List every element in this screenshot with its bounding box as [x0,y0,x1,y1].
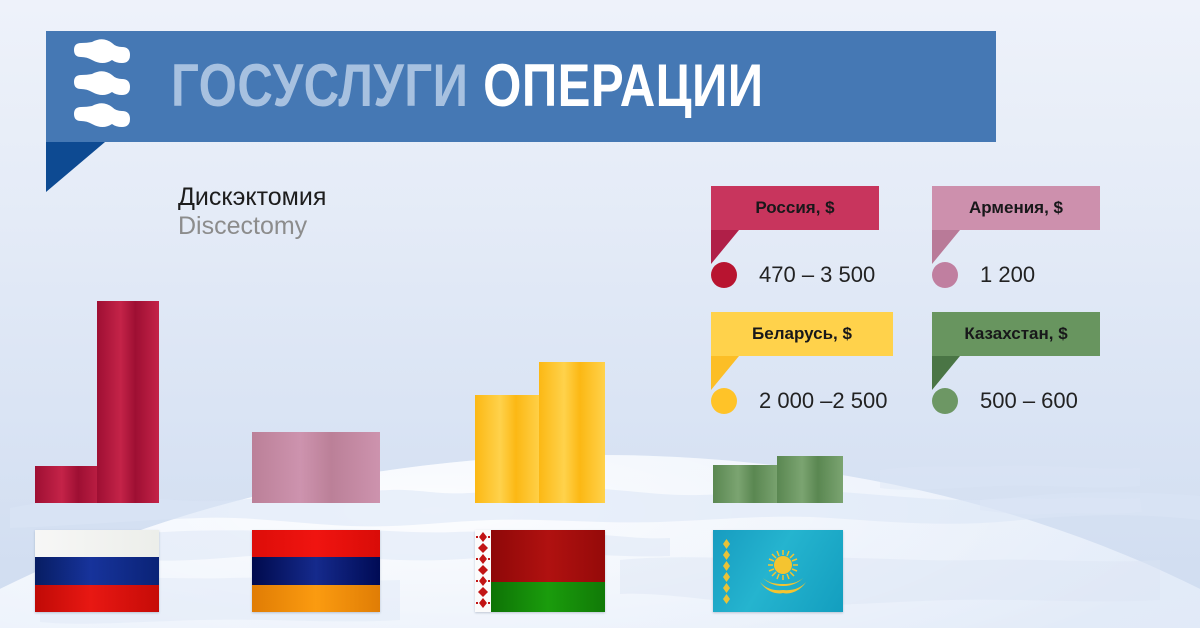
legend-value-row-russia: 470 – 3 500 [711,262,875,288]
flag-stripe [491,530,605,582]
legend-dot-icon [932,388,958,414]
legend-country-russia: Россия, $ [755,198,834,218]
legend-value-kazakhstan: 500 – 600 [980,388,1078,414]
flag-stripe [252,557,380,584]
flag-stripe [491,582,605,612]
legend-dot-icon [932,262,958,288]
flag-belarus [475,530,605,612]
legend-item-kazakhstan[interactable]: Казахстан, $ 500 – 600 [932,312,1100,356]
bar-belarus-max [539,362,605,503]
flag-russia [35,530,159,612]
legend-bubble-belarus: Беларусь, $ [711,312,893,356]
bar-russia-min [35,466,105,503]
legend-value-russia: 470 – 3 500 [759,262,875,288]
bar-armenia [252,432,380,503]
legend-dot-icon [711,388,737,414]
belarus-ornament-icon [475,530,491,612]
kazakhstan-emblem-icon [713,530,843,612]
infographic-canvas: ГОСУСЛУГИ ОПЕРАЦИИ Дискэктомия Discectom… [0,0,1200,628]
legend-item-armenia[interactable]: Армения, $ 1 200 [932,186,1100,230]
legend-value-row-armenia: 1 200 [932,262,1035,288]
bar-russia-max [97,301,159,503]
legend-bubble-russia: Россия, $ [711,186,879,230]
procedure-title-block: Дискэктомия Discectomy [178,183,326,241]
title-word-operacii: ОПЕРАЦИИ [483,51,763,120]
flag-stripe [252,530,380,557]
legend-value-row-kazakhstan: 500 – 600 [932,388,1078,414]
legend-value-armenia: 1 200 [980,262,1035,288]
legend-value-belarus: 2 000 –2 500 [759,388,887,414]
bar-kazakhstan-min [713,465,779,503]
spine-vertebrae-icon [72,38,134,134]
legend-bubble-armenia: Армения, $ [932,186,1100,230]
title-word-gosuslugi: ГОСУСЛУГИ [171,51,468,120]
flag-stripe [35,530,159,557]
legend-bubble-tail-icon [932,230,960,264]
flag-armenia [252,530,380,612]
flag-stripe [252,585,380,612]
legend-country-kazakhstan: Казахстан, $ [964,324,1067,344]
legend-bubble-tail-icon [932,356,960,390]
legend-country-armenia: Армения, $ [969,198,1063,218]
legend-bubble-tail-icon [711,356,739,390]
legend-item-russia[interactable]: Россия, $ 470 – 3 500 [711,186,879,230]
bar-belarus-min [475,395,541,503]
procedure-name-en: Discectomy [178,212,326,241]
page-title: ГОСУСЛУГИ ОПЕРАЦИИ [171,38,764,133]
legend-bubble-tail-icon [711,230,739,264]
flag-kazakhstan [713,530,843,612]
header-ribbon-fold-icon [46,142,105,192]
legend-value-row-belarus: 2 000 –2 500 [711,388,887,414]
legend-item-belarus[interactable]: Беларусь, $ 2 000 –2 500 [711,312,893,356]
flag-stripe [35,557,159,584]
bar-kazakhstan-max [777,456,843,503]
flag-stripe [35,585,159,612]
legend-bubble-kazakhstan: Казахстан, $ [932,312,1100,356]
legend-country-belarus: Беларусь, $ [752,324,852,344]
legend-dot-icon [711,262,737,288]
procedure-name-ru: Дискэктомия [178,183,326,212]
